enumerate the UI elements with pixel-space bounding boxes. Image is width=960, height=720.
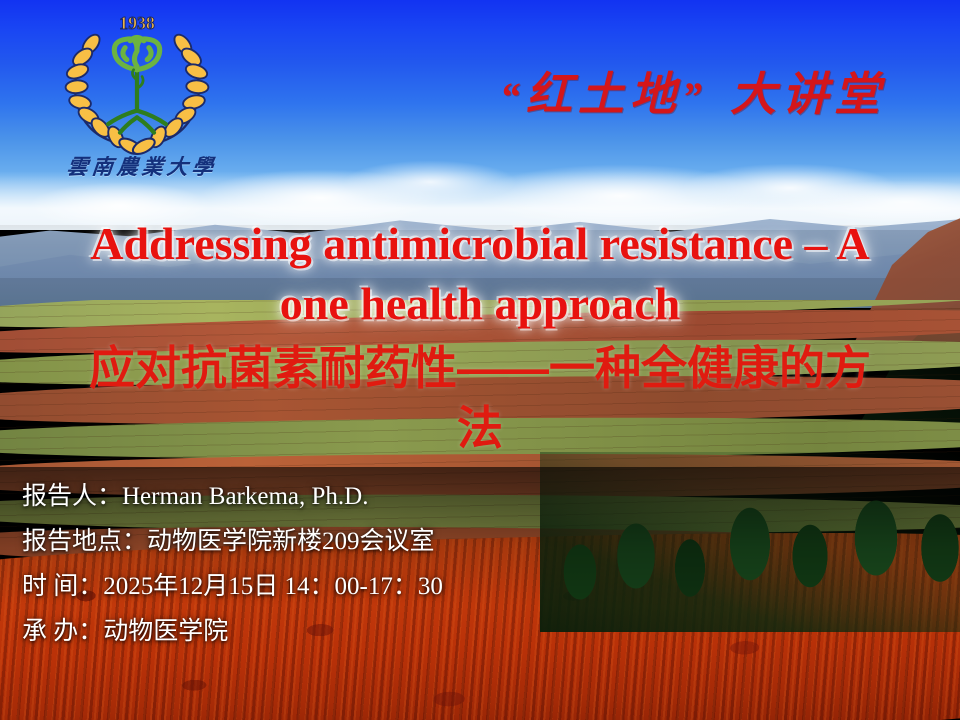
university-name-text: 雲南農業大學 (50, 151, 233, 181)
lecture-series-header: “红土地”大讲堂 (500, 58, 950, 124)
detail-time: 时 间：2025年12月15日 14：00-17：30 (22, 564, 722, 609)
emblem-year: 1938 (119, 13, 155, 33)
title-english: Addressing antimicrobial resistance – A … (20, 214, 940, 334)
series-name: 红土地 (526, 69, 682, 120)
open-quote: “ (500, 74, 526, 119)
close-quote: ” (682, 74, 708, 119)
detail-venue: 报告地点：动物医学院新楼209会议室 (22, 519, 722, 564)
lecture-poster: 1938 (0, 0, 960, 720)
title-english-line2: one health approach (20, 274, 940, 334)
tree-and-wheat-emblem-icon: 1938 (52, 10, 222, 155)
title-chinese-line1: 应对抗菌素耐药性——一种全健康的方 (20, 338, 940, 398)
detail-speaker: 报告人：Herman Barkema, Ph.D. (22, 474, 722, 519)
detail-organizer: 承 办：动物医学院 (22, 609, 722, 654)
event-details: 报告人：Herman Barkema, Ph.D. 报告地点：动物医学院新楼20… (22, 474, 722, 654)
university-logo: 1938 (52, 10, 242, 190)
title-chinese-line2: 法 (20, 398, 940, 458)
title-english-line1: Addressing antimicrobial resistance – A (20, 214, 940, 274)
title-chinese: 应对抗菌素耐药性——一种全健康的方 法 (20, 338, 940, 458)
lecture-hall-label: 大讲堂 (730, 69, 886, 120)
